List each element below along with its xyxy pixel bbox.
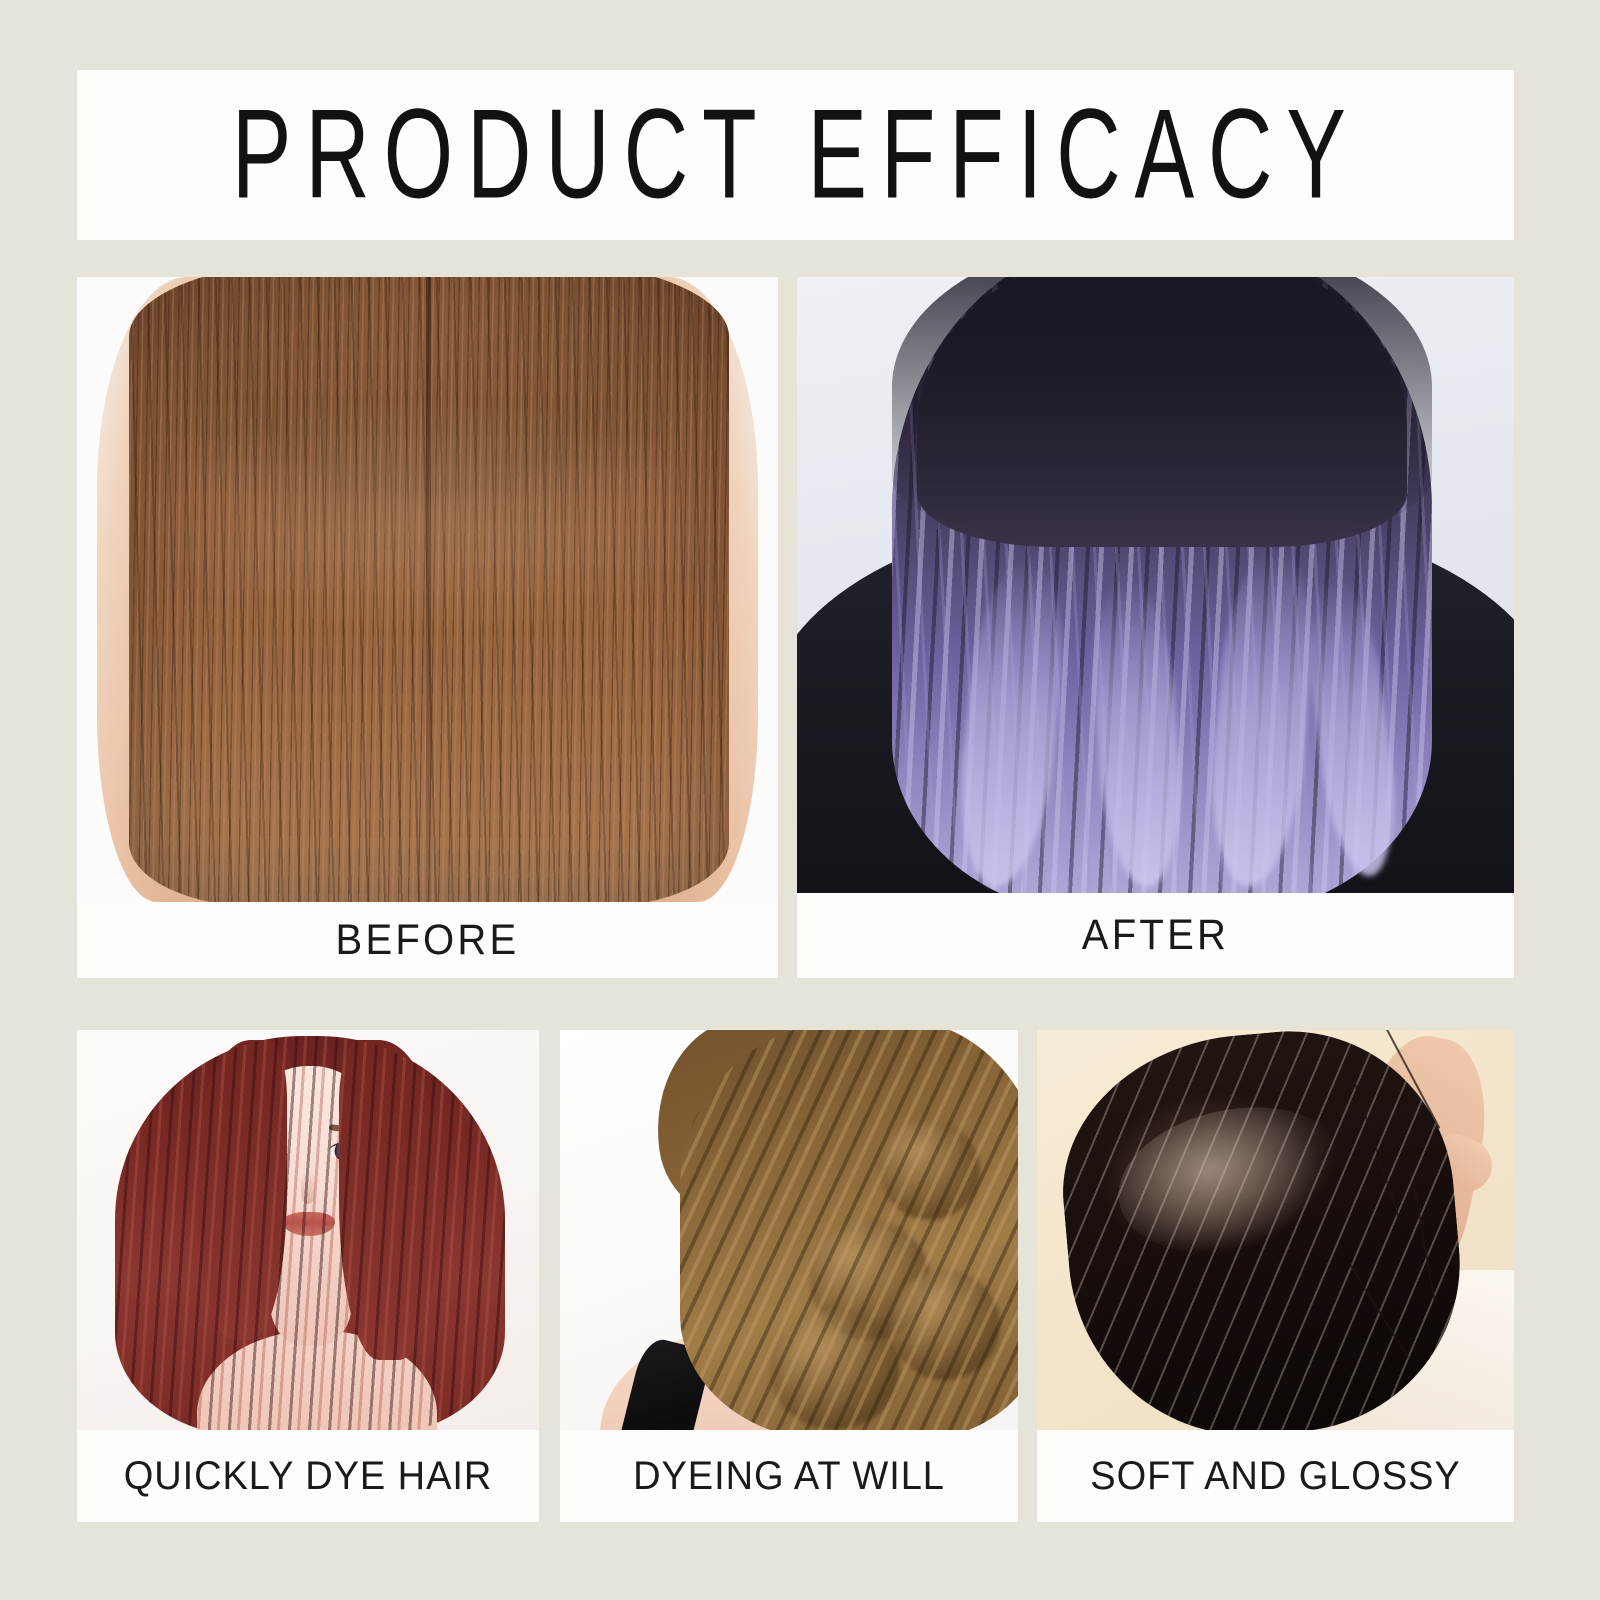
before-photo [77,277,778,902]
after-card: AFTER [797,277,1514,978]
red-hair-texture [115,1036,505,1430]
hair-part-line [426,277,431,902]
product-efficacy-infographic: PRODUCT EFFICACY BEFORE [0,0,1600,1600]
feature-caption-quickly-dye-hair: QUICKLY DYE HAIR [89,1430,528,1522]
page-title: PRODUCT EFFICACY [232,92,1360,219]
red-hair-photo [77,1030,539,1430]
hair-root-shadow [892,277,1432,537]
before-card: BEFORE [77,277,778,978]
black-hair-photo [1037,1030,1514,1430]
after-caption: AFTER [822,893,1489,978]
feature-card-soft-and-glossy: SOFT AND GLOSSY [1037,1030,1514,1522]
feature-card-dyeing-at-will: DYEING AT WILL [560,1030,1018,1522]
before-caption: BEFORE [102,902,754,978]
feature-caption-dyeing-at-will: DYEING AT WILL [571,1430,1006,1522]
title-card: PRODUCT EFFICACY [77,70,1514,240]
hair-curl-texture [680,1030,1018,1430]
feature-card-quickly-dye-hair: QUICKLY DYE HAIR [77,1030,539,1522]
after-photo [797,277,1514,893]
feature-caption-soft-and-glossy: SOFT AND GLOSSY [1049,1430,1502,1522]
brown-hair-photo [560,1030,1018,1430]
